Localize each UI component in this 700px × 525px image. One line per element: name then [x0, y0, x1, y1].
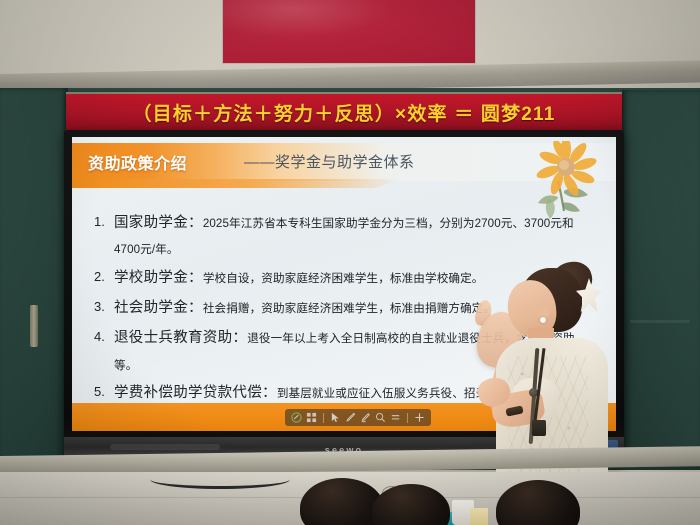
motto-banner-text: （目标＋方法＋努力＋反思）×效率 ＝ 圆梦211 — [132, 99, 555, 126]
slide-title: 资助政策介绍 — [88, 150, 187, 174]
list-item-heading: 退役士兵教育资助： — [114, 330, 247, 346]
list-item-text: 社会捐赠，资助家庭经济困难学生，标准由捐赠方确定。 — [203, 302, 495, 315]
wall-red-panel — [222, 0, 476, 64]
list-item-heading: 国家助学金： — [114, 215, 203, 231]
toolbar-divider — [407, 413, 408, 423]
teacher-id-badge — [532, 420, 546, 436]
list-item-number: 3. — [94, 294, 114, 322]
list-item-number: 4. — [94, 324, 114, 377]
hanging-cable — [150, 470, 290, 489]
list-item-heading: 学费补偿助学贷款代偿： — [114, 385, 277, 401]
chalk-mark — [630, 320, 690, 323]
blackboard-right-panel — [622, 90, 700, 462]
blackboard-slide-handle[interactable] — [30, 305, 38, 347]
cursor-arrow-icon[interactable] — [330, 412, 341, 423]
list-item-heading: 学校助学金： — [114, 270, 203, 286]
ink-color-icon[interactable] — [390, 412, 401, 423]
presenter-toolbar[interactable] — [285, 409, 431, 426]
list-item: 1. 国家助学金：2025年江苏省本专科生国家助学金分为三档，分别为2700元、… — [94, 209, 594, 262]
laser-pointer-icon[interactable] — [291, 412, 302, 423]
list-item-number: 2. — [94, 264, 114, 292]
teacher-earring — [540, 317, 546, 323]
more-options-icon[interactable] — [414, 412, 425, 423]
display-vent — [110, 444, 220, 450]
eraser-icon[interactable] — [375, 412, 386, 423]
list-item-heading: 社会助学金： — [114, 300, 203, 316]
list-item-text: 学校自设，资助家庭经济困难学生，标准由学校确定。 — [203, 272, 484, 285]
toolbar-divider — [323, 413, 324, 423]
list-item-number: 1. — [94, 209, 114, 262]
classroom-photo: （目标＋方法＋努力＋反思）×效率 ＝ 圆梦211 资助政策介绍 ——奖学金与助学… — [0, 0, 700, 525]
slide-subtitle: ——奖学金与助学金体系 — [244, 151, 415, 172]
motto-banner: （目标＋方法＋努力＋反思）×效率 ＝ 圆梦211 — [66, 92, 622, 132]
paper-stack — [470, 508, 488, 525]
highlighter-icon[interactable] — [360, 412, 371, 423]
slide-grid-icon[interactable] — [306, 412, 317, 423]
pen-icon[interactable] — [345, 412, 356, 423]
blackboard-left-panel — [0, 88, 68, 460]
